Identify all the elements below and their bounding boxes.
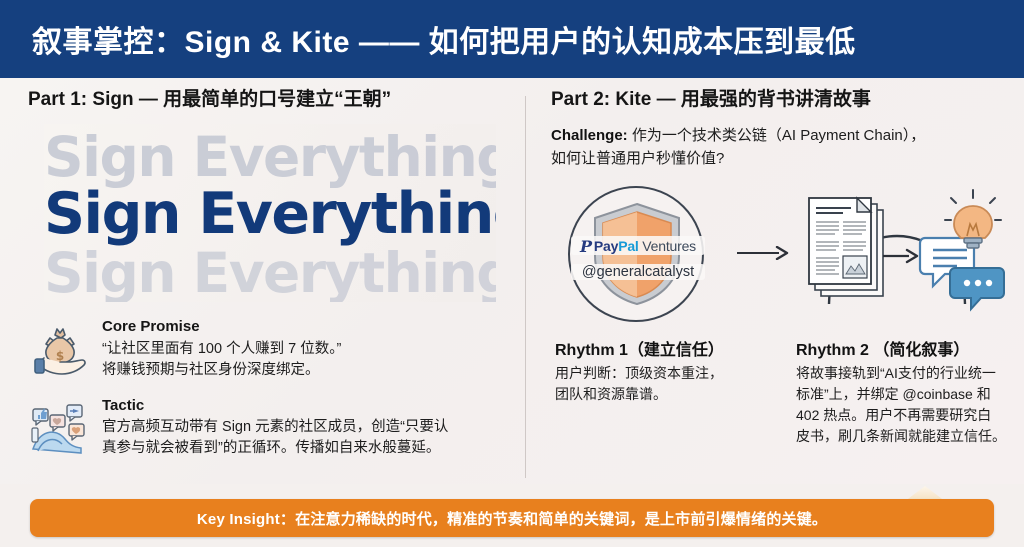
column-divider — [525, 96, 526, 478]
chat-bubble-filled-icon — [950, 268, 1004, 309]
documents-stack-icon — [809, 198, 883, 296]
bullet-title: Core Promise — [102, 318, 510, 337]
sign-everything-ghost-bottom: Sign Everything — [44, 246, 496, 301]
bullet-body-line: 真参与就会被看到”的正循环。传播如自来水般蔓延。 — [102, 438, 510, 459]
challenge-text: Challenge: 作为一个技术类公链（AI Payment Chain）， … — [551, 124, 1011, 171]
rhythm-1: Rhythm 1（建立信任） 用户判断：顶级资本重注， 团队和资源靠谱。 — [555, 336, 765, 405]
bullet-body: “让社区里面有 100 个人赚到 7 位数。” 将赚钱预期与社区身份深度绑定。 — [102, 339, 510, 381]
challenge-line-2: 如何让普通用户秒懂价值? — [551, 147, 1011, 170]
page-title: 叙事掌控：Sign & Kite —— 如何把用户的认知成本压到最低 — [0, 17, 856, 61]
arrow-right-icon-2 — [883, 250, 917, 262]
general-catalyst-handle: @generalcatalyst — [571, 264, 705, 280]
rhythm-body-line: 皮书，刷几条新闻就能建立信任。 — [796, 426, 1024, 447]
challenge-label: Challenge: — [551, 127, 628, 144]
rhythm-body: 将故事接轨到“AI支付的行业统一 标准”上，并绑定 @coinbase 和 40… — [796, 363, 1024, 447]
header-bar: 叙事掌控：Sign & Kite —— 如何把用户的认知成本压到最低 — [0, 0, 1024, 78]
bullet-body: 官方高频互动带有 Sign 元素的社区成员，创造“只要认 真参与就会被看到”的正… — [102, 417, 510, 459]
right-panel: Part 2: Kite — 用最强的背书讲清故事 Challenge: 作为一… — [551, 88, 1011, 446]
paypal-ventures-suffix: Ventures — [639, 238, 696, 254]
list-item: Tactic 官方高频互动带有 Sign 元素的社区成员，创造“只要认 真参与就… — [28, 395, 510, 460]
arrow-right-icon — [737, 246, 789, 260]
svg-text:$: $ — [56, 349, 64, 363]
paypal-pal: Pal — [618, 238, 638, 254]
slide-root: 叙事掌控：Sign & Kite —— 如何把用户的认知成本压到最低 Part … — [0, 0, 1024, 547]
rhythm-body-line: 用户判断：顶级资本重注， — [555, 363, 765, 384]
story-graphic — [795, 184, 1011, 324]
kite-graphic-row: PPayPal Ventures @generalcatalyst — [551, 184, 1011, 324]
left-panel-heading: Part 1: Sign — 用最简单的口号建立“王朝” — [28, 88, 510, 112]
sign-everything-graphic: Sign Everything Sign Everything Sign Eve… — [44, 124, 496, 302]
rhythm-body-line: 团队和资源靠谱。 — [555, 384, 765, 405]
sign-everything-ghost-top: Sign Everything — [44, 130, 496, 185]
key-insight-banner: Key Insight：在注意力稀缺的时代，精准的节奏和简单的关键词，是上市前引… — [30, 499, 994, 537]
challenge-line-1: 作为一个技术类公链（AI Payment Chain）， — [628, 127, 926, 144]
bullet-text: Core Promise “让社区里面有 100 个人赚到 7 位数。” 将赚钱… — [102, 316, 510, 381]
money-bag-in-hand-icon: $ — [28, 318, 92, 380]
left-panel: Part 1: Sign — 用最简单的口号建立“王朝” Sign Everyt… — [28, 88, 510, 459]
paypal-pay: Pay — [594, 238, 618, 254]
rhythm-title: Rhythm 1（建立信任） — [555, 336, 765, 360]
right-panel-heading: Part 2: Kite — 用最强的背书讲清故事 — [551, 88, 1011, 112]
bullet-title: Tactic — [102, 397, 510, 416]
rhythm-body-line: 402 热点。用户不再需要研究白 — [796, 405, 1024, 426]
bullet-body-line: 将赚钱预期与社区身份深度绑定。 — [102, 360, 510, 381]
key-insight-text: Key Insight：在注意力稀缺的时代，精准的节奏和简单的关键词，是上市前引… — [197, 508, 827, 529]
rhythm-body-line: 标准”上，并绑定 @coinbase 和 — [796, 384, 1024, 405]
bullet-body-line: “让社区里面有 100 个人赚到 7 位数。” — [102, 339, 510, 360]
social-wave-icon — [28, 397, 92, 459]
bullet-text: Tactic 官方高频互动带有 Sign 元素的社区成员，创造“只要认 真参与就… — [102, 395, 510, 460]
list-item: $ Core Promise “让社区里面有 100 个人赚到 7 位数。” 将… — [28, 316, 510, 381]
rhythm-2: Rhythm 2 （简化叙事） 将故事接轨到“AI支付的行业统一 标准”上，并绑… — [796, 336, 1024, 447]
rhythm-title: Rhythm 2 （简化叙事） — [796, 336, 1024, 360]
investor-badge: PPayPal Ventures @generalcatalyst — [565, 184, 711, 324]
sign-everything-main: Sign Everything — [44, 186, 496, 243]
rhythm-body-line: 将故事接轨到“AI支付的行业统一 — [796, 363, 1024, 384]
bullet-body-line: 官方高频互动带有 Sign 元素的社区成员，创造“只要认 — [102, 417, 510, 438]
paypal-glyph-icon: P — [580, 237, 592, 256]
rhythm-body: 用户判断：顶级资本重注， 团队和资源靠谱。 — [555, 363, 765, 405]
rhythm-row: Rhythm 1（建立信任） 用户判断：顶级资本重注， 团队和资源靠谱。 Rhy… — [551, 336, 1011, 446]
paypal-ventures-label: PPayPal Ventures — [571, 236, 705, 255]
